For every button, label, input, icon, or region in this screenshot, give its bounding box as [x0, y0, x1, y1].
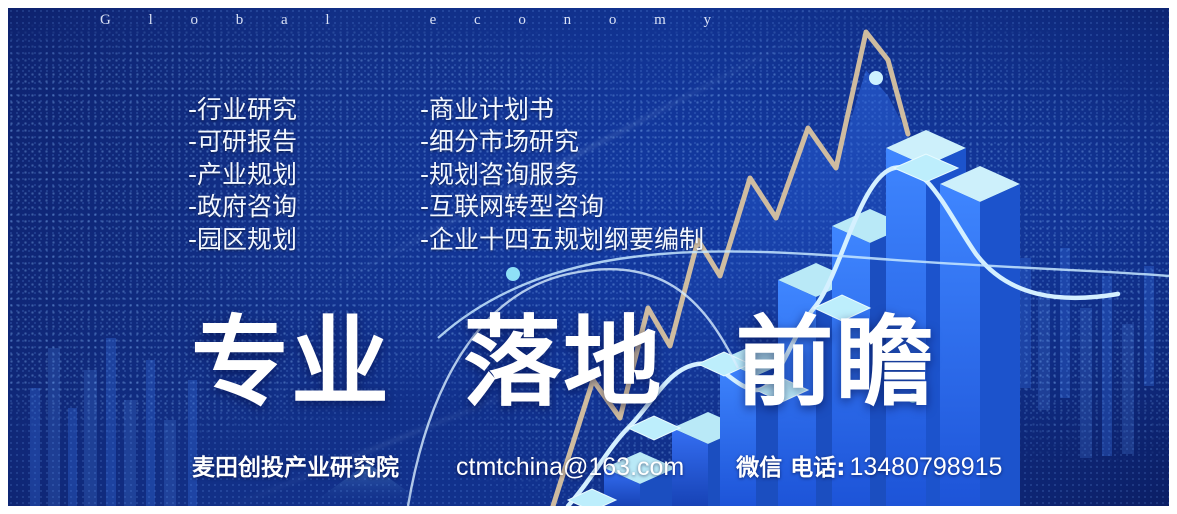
service-item: -规划咨询服务: [420, 159, 704, 191]
contact-email: ctmtchina@163.com: [456, 453, 684, 482]
organization-name: 麦田创投产业研究院: [192, 448, 399, 482]
service-item: -可研报告: [188, 126, 297, 158]
service-list-left: -行业研究 -可研报告 -产业规划 -政府咨询 -园区规划: [188, 94, 297, 256]
service-item: -园区规划: [188, 224, 297, 256]
arc-node-dot: [506, 267, 520, 281]
chart-node-top: [869, 71, 883, 85]
service-item: -互联网转型咨询: [420, 191, 704, 223]
service-item: -政府咨询: [188, 191, 297, 223]
kicker-text: G l o b a l e c o n o m y: [100, 12, 728, 29]
footer-contact-row: 麦田创投产业研究院 ctmtchina@163.com 微信 电话: 13480…: [192, 448, 1002, 482]
service-item: -商业计划书: [420, 94, 704, 126]
contact-phone: 13480798915: [849, 453, 1002, 482]
service-item: -细分市场研究: [420, 126, 704, 158]
service-item: -行业研究: [188, 94, 297, 126]
promotional-banner: G l o b a l e c o n o m y -行业研究 -可研报告 -产…: [8, 8, 1169, 506]
service-list-right: -商业计划书 -细分市场研究 -规划咨询服务 -互联网转型咨询 -企业十四五规划…: [420, 94, 704, 256]
headline-slogan: 专业 落地 前瞻: [191, 314, 935, 412]
service-item: -产业规划: [188, 159, 297, 191]
contact-label: 微信 电话:: [736, 448, 845, 482]
economy-chart-graphic: [8, 8, 1169, 506]
service-item: -企业十四五规划纲要编制: [420, 224, 704, 256]
